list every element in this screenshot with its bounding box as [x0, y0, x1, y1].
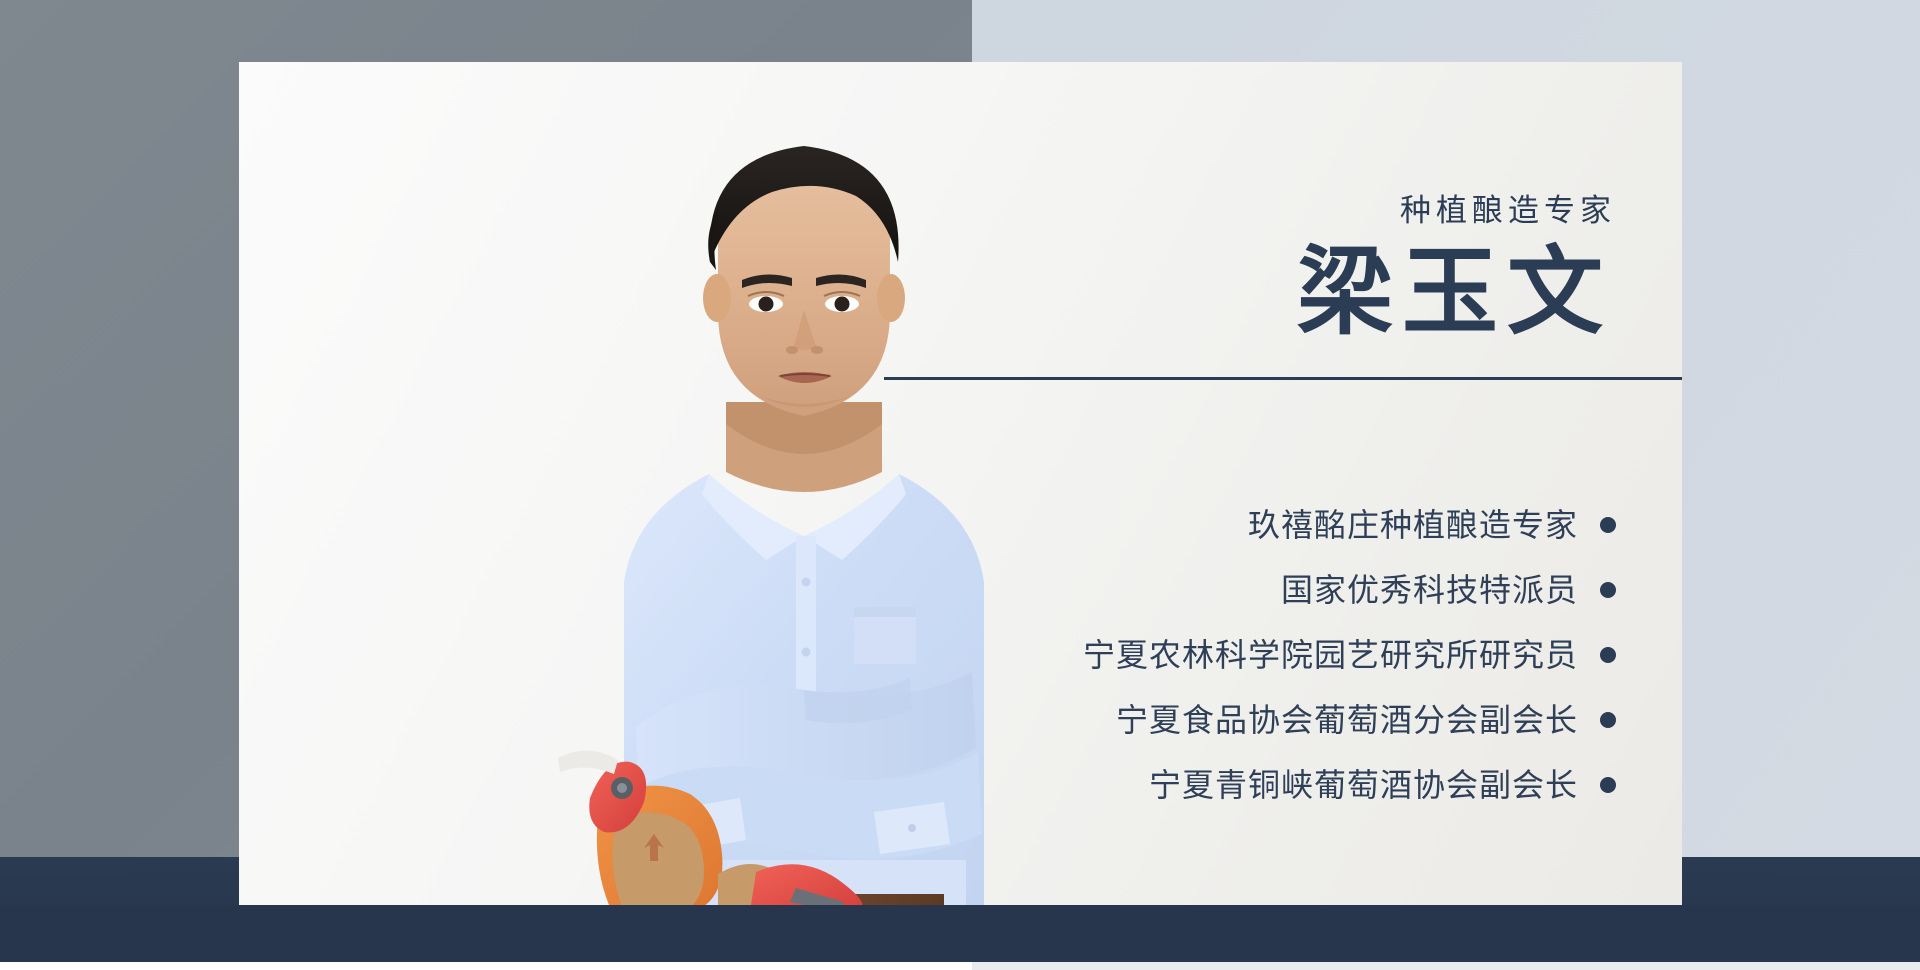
bullet-dot-icon: [1600, 517, 1616, 533]
divider-bar: [884, 377, 1682, 380]
credential-label: 宁夏青铜峡葡萄酒协会副会长: [1149, 769, 1578, 801]
credential-label: 国家优秀科技特派员: [1281, 574, 1578, 606]
credential-label: 宁夏农林科学院园艺研究所研究员: [1083, 639, 1578, 671]
bullet-dot-icon: [1600, 712, 1616, 728]
credential-label: 宁夏食品协会葡萄酒分会副会长: [1116, 704, 1578, 736]
profile-text-column: 种植酿造专家 梁玉文 玖禧酩庄种植酿造专家 国家优秀科技特派员 宁夏农林科学院园…: [879, 62, 1682, 905]
credential-item: 宁夏青铜峡葡萄酒协会副会长: [1149, 752, 1616, 817]
credential-item: 宁夏农林科学院园艺研究所研究员: [1083, 622, 1616, 687]
bullet-dot-icon: [1600, 582, 1616, 598]
credential-label: 玖禧酩庄种植酿造专家: [1248, 509, 1578, 541]
background-navy-strip: [0, 905, 1920, 970]
credential-item: 国家优秀科技特派员: [1281, 557, 1616, 622]
divider-rule: [884, 376, 1682, 381]
profile-card: 种植酿造专家 梁玉文 玖禧酩庄种植酿造专家 国家优秀科技特派员 宁夏农林科学院园…: [239, 62, 1682, 905]
poster-stage: 种植酿造专家 梁玉文 玖禧酩庄种植酿造专家 国家优秀科技特派员 宁夏农林科学院园…: [0, 0, 1920, 970]
profile-subtitle: 种植酿造专家: [1400, 195, 1616, 226]
bullet-dot-icon: [1600, 777, 1616, 793]
profile-name: 梁玉文: [1297, 245, 1612, 341]
bullet-dot-icon: [1600, 647, 1616, 663]
credential-item: 宁夏食品协会葡萄酒分会副会长: [1116, 687, 1616, 752]
footer-right-strip: [972, 962, 1920, 970]
credentials-list: 玖禧酩庄种植酿造专家 国家优秀科技特派员 宁夏农林科学院园艺研究所研究员 宁夏食…: [876, 492, 1616, 817]
credential-item: 玖禧酩庄种植酿造专家: [1248, 492, 1616, 557]
